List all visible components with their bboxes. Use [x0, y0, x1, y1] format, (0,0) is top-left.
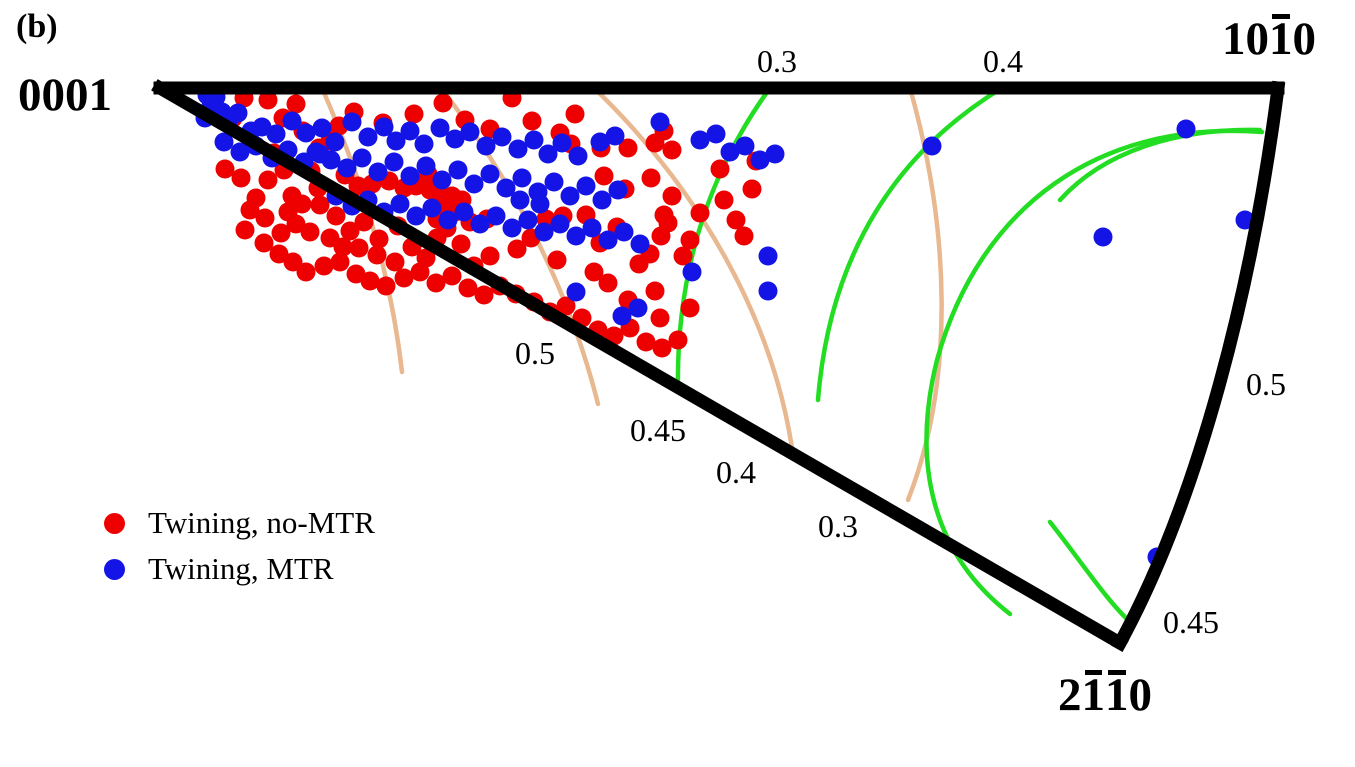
data-point [391, 195, 410, 214]
data-point [331, 253, 350, 272]
data-point [569, 147, 588, 166]
corner-label-1010: 1010 [1222, 16, 1316, 63]
data-point [551, 215, 570, 234]
contour-label-top-03: 0.3 [757, 45, 797, 77]
data-point [452, 235, 471, 254]
data-point [232, 169, 251, 188]
data-point [272, 224, 291, 243]
data-point [259, 171, 278, 190]
data-point [443, 267, 462, 286]
data-point [681, 299, 700, 318]
data-point [370, 230, 389, 249]
data-point [311, 145, 330, 164]
data-point [477, 137, 496, 156]
data-point [321, 229, 340, 248]
data-point [267, 125, 286, 144]
data-point [216, 160, 235, 179]
data-point [401, 122, 420, 141]
data-point [287, 95, 306, 114]
data-point [513, 169, 532, 188]
ipf-figure: (b) 0001 1010 2110 0.3 0.4 0.5 0.45 0.4 … [0, 0, 1355, 767]
data-point [583, 219, 602, 238]
data-point [707, 125, 726, 144]
data-point [711, 160, 730, 179]
data-point [415, 135, 434, 154]
data-point [715, 191, 734, 210]
ipf-plot-svg [0, 0, 1355, 767]
data-point [297, 263, 316, 282]
data-point [417, 157, 436, 176]
data-point [465, 175, 484, 194]
data-point [315, 257, 334, 276]
legend-label-no-mtr: Twining, no-MTR [148, 505, 375, 541]
data-point [481, 247, 500, 266]
data-point [525, 131, 544, 150]
data-point [548, 251, 567, 270]
data-point [631, 235, 650, 254]
data-point [595, 167, 614, 186]
data-point [615, 223, 634, 242]
data-point [736, 137, 755, 156]
data-point [385, 153, 404, 172]
data-point [566, 105, 585, 124]
data-point [423, 199, 442, 218]
data-point [311, 196, 330, 215]
data-point [593, 191, 612, 210]
data-point [577, 177, 596, 196]
data-point [759, 247, 778, 266]
data-point [369, 163, 388, 182]
data-point [377, 277, 396, 296]
contour-label-left-05: 0.5 [515, 337, 555, 369]
legend-label-mtr: Twining, MTR [148, 551, 334, 587]
data-point [523, 112, 542, 131]
data-point [455, 203, 474, 222]
data-point [531, 195, 550, 214]
data-point [327, 207, 346, 226]
data-point [743, 180, 762, 199]
data-point [493, 128, 512, 147]
data-point [236, 221, 255, 240]
contour-label-left-03: 0.3 [818, 510, 858, 542]
legend-marker-red-icon [104, 513, 125, 534]
data-point [511, 191, 530, 210]
data-point [326, 133, 345, 152]
contour-label-right-045: 0.45 [1163, 606, 1219, 638]
data-point [651, 309, 670, 328]
data-point [368, 246, 387, 265]
data-point [663, 141, 682, 160]
legend-item-no-mtr: Twining, no-MTR [104, 500, 375, 546]
legend: Twining, no-MTR Twining, MTR [104, 500, 375, 592]
data-point [229, 104, 248, 123]
data-point [519, 211, 538, 230]
data-point [923, 137, 942, 156]
legend-item-mtr: Twining, MTR [104, 546, 375, 592]
contour-label-right-05: 0.5 [1246, 368, 1286, 400]
data-point [553, 134, 572, 153]
data-point [646, 282, 665, 301]
data-point [343, 113, 362, 132]
data-point [359, 128, 378, 147]
data-point [681, 231, 700, 250]
data-point [434, 94, 453, 113]
data-point [353, 149, 372, 168]
data-point [609, 181, 628, 200]
data-point [691, 204, 710, 223]
corner-label-2110: 2110 [1058, 672, 1152, 719]
data-point [449, 161, 468, 180]
data-point [759, 282, 778, 301]
data-point [481, 165, 500, 184]
data-point [735, 227, 754, 246]
data-point [561, 187, 580, 206]
contour-label-left-045: 0.45 [630, 414, 686, 446]
data-point [461, 123, 480, 142]
data-point [401, 167, 420, 186]
data-point [545, 173, 564, 192]
data-point [386, 253, 405, 272]
data-point [683, 263, 702, 282]
panel-label: (b) [16, 8, 58, 46]
data-point [606, 127, 625, 146]
legend-marker-blue-icon [104, 559, 125, 580]
data-point [659, 214, 678, 233]
data-point [651, 113, 670, 132]
data-point [642, 169, 661, 188]
contour-label-left-04: 0.4 [716, 456, 756, 488]
data-point [241, 201, 260, 220]
data-point [1177, 120, 1196, 139]
data-point [766, 145, 785, 164]
corner-label-0001: 0001 [18, 72, 112, 119]
data-point [663, 187, 682, 206]
data-point [567, 283, 586, 302]
data-point [405, 105, 424, 124]
data-point [669, 331, 688, 350]
data-point [487, 207, 506, 226]
contour-label-top-04: 0.4 [983, 45, 1023, 77]
data-point [313, 119, 332, 138]
data-point [411, 263, 430, 282]
data-point [509, 140, 528, 159]
data-point [475, 286, 494, 305]
data-point [599, 274, 618, 293]
data-point [433, 171, 452, 190]
data-point [1094, 228, 1113, 247]
data-point [629, 299, 648, 318]
